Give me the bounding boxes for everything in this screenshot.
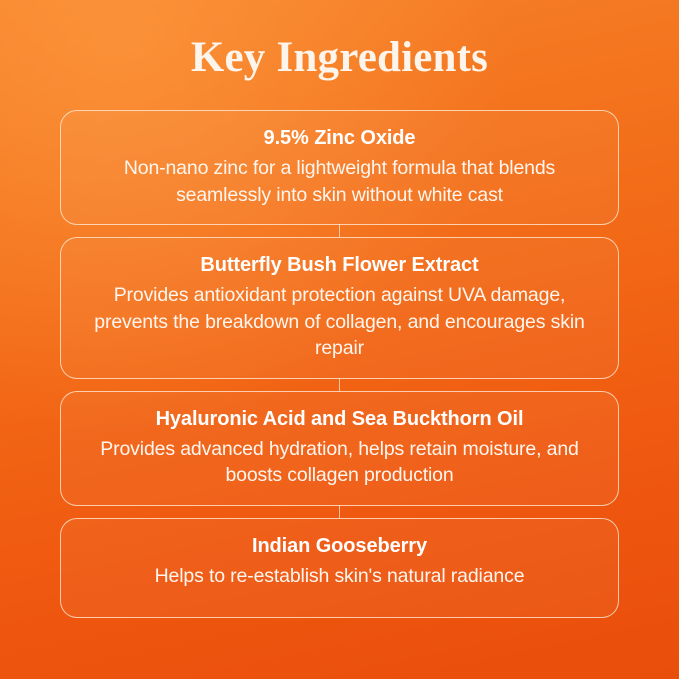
- page-title-container: Key Ingredients: [0, 34, 679, 82]
- ingredient-description: Provides advanced hydration, helps retai…: [83, 436, 596, 489]
- key-ingredients-infographic: Key Ingredients 9.5% Zinc Oxide Non-nano…: [0, 0, 679, 679]
- ingredient-card-zinc-oxide: 9.5% Zinc Oxide Non-nano zinc for a ligh…: [60, 110, 619, 225]
- ingredient-card-butterfly-bush-flower-extract: Butterfly Bush Flower Extract Provides a…: [60, 237, 619, 379]
- card-connector-line: [339, 378, 340, 391]
- ingredient-card-list: 9.5% Zinc Oxide Non-nano zinc for a ligh…: [60, 110, 619, 618]
- ingredient-description: Non-nano zinc for a lightweight formula …: [83, 155, 596, 208]
- ingredient-description: Provides antioxidant protection against …: [83, 282, 596, 362]
- ingredient-card-indian-gooseberry: Indian Gooseberry Helps to re-establish …: [60, 518, 619, 618]
- ingredient-description: Helps to re-establish skin's natural rad…: [83, 563, 596, 590]
- page-title: Key Ingredients: [191, 34, 488, 82]
- ingredient-name: Indian Gooseberry: [83, 533, 596, 559]
- ingredient-card-hyaluronic-acid-sea-buckthorn-oil: Hyaluronic Acid and Sea Buckthorn Oil Pr…: [60, 391, 619, 506]
- card-connector-line: [339, 224, 340, 237]
- card-connector-line: [339, 505, 340, 518]
- ingredient-name: Butterfly Bush Flower Extract: [83, 252, 596, 278]
- ingredient-name: 9.5% Zinc Oxide: [83, 125, 596, 151]
- ingredient-name: Hyaluronic Acid and Sea Buckthorn Oil: [83, 406, 596, 432]
